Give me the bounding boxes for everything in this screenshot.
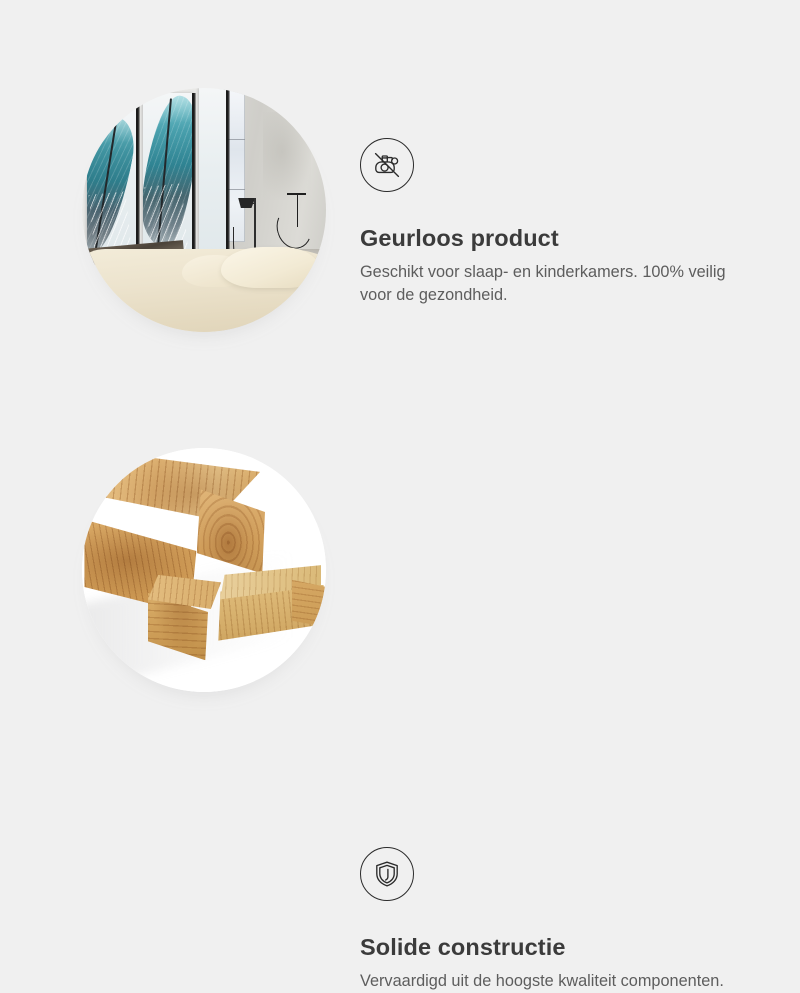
no-perfume-icon xyxy=(360,138,414,192)
feature-title: Geurloos product xyxy=(360,224,760,252)
product-photo-bedroom xyxy=(82,88,326,332)
right-plank-end-grain xyxy=(292,580,326,648)
product-photo-wooden-beams xyxy=(82,448,326,692)
shield-icon xyxy=(360,847,414,901)
feature-description: Geschikt voor slaap- en kinderkamers. 10… xyxy=(360,261,752,307)
bedroom-scene xyxy=(82,88,326,332)
wooden-beams-scene xyxy=(82,448,326,692)
canvas-panel-edge xyxy=(192,93,194,271)
bed-pillow-front xyxy=(221,247,319,288)
photo-circle-mask xyxy=(82,448,326,692)
bedroom-wall-texture xyxy=(263,112,312,200)
canvas-panel-edge xyxy=(226,88,228,273)
feature-block-solid-construction: Solide constructie Vervaardigd uit de ho… xyxy=(0,400,800,760)
canvas-panel-right xyxy=(199,88,228,273)
photo-circle-mask xyxy=(82,88,326,332)
feature-block-odourless-product: Geurloos product Geschikt voor slaap- en… xyxy=(0,40,800,400)
feature-text-odourless-product: Geurloos product Geschikt voor slaap- en… xyxy=(360,138,760,307)
feature-title: Solide constructie xyxy=(360,933,760,961)
feature-description: Vervaardigd uit de hoogste kwaliteit com… xyxy=(360,970,752,993)
feature-text-solid-construction: Solide constructie Vervaardigd uit de ho… xyxy=(360,847,760,993)
